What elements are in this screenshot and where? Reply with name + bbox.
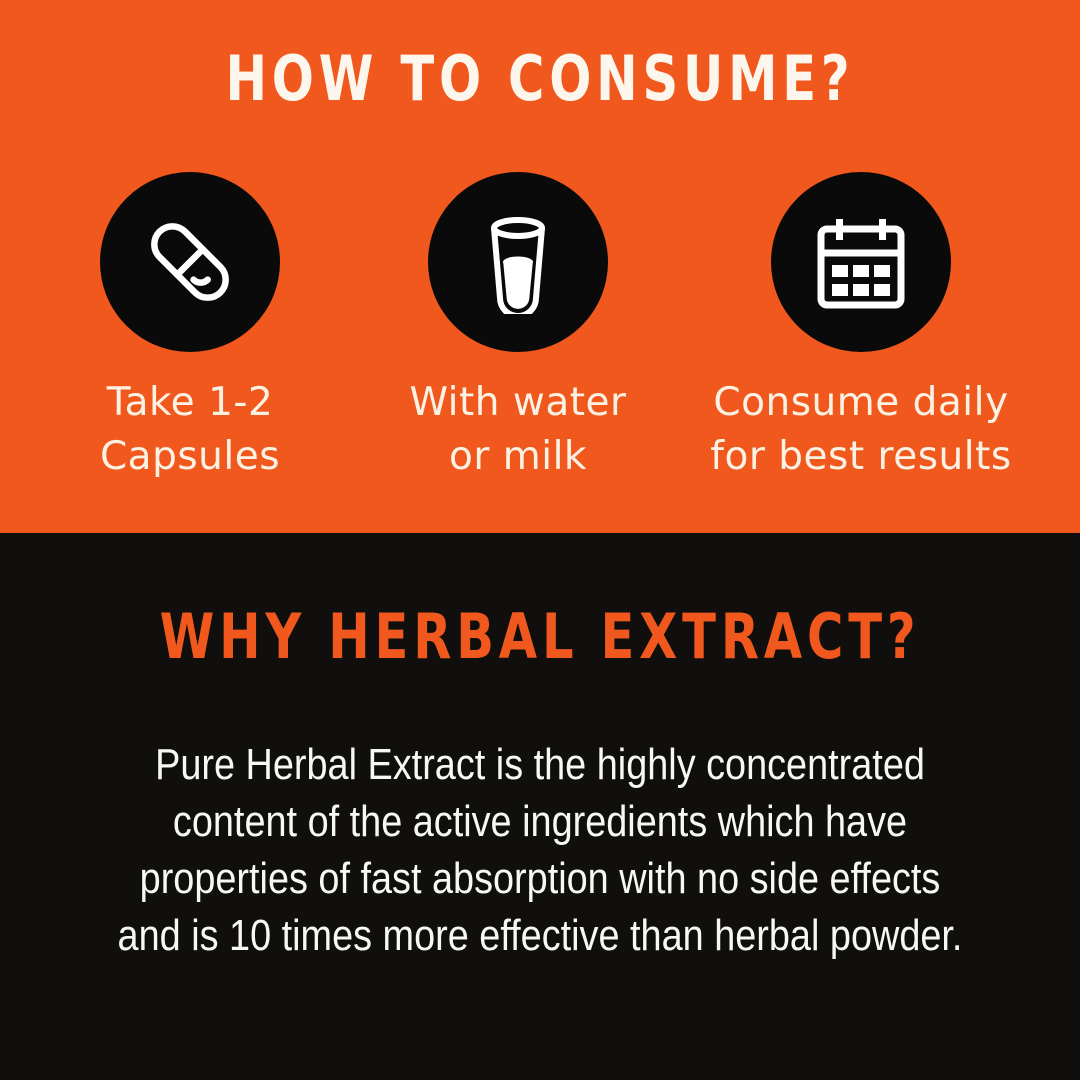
water-badge bbox=[428, 172, 608, 352]
why-paragraph: Pure Herbal Extract is the highly concen… bbox=[101, 736, 978, 964]
why-title: WHY HERBAL EXTRACT? bbox=[108, 601, 972, 673]
steps-row: Take 1-2 Capsules bbox=[0, 172, 1080, 502]
why-herbal-extract-section: WHY HERBAL EXTRACT? Pure Herbal Extract … bbox=[0, 533, 1080, 1080]
step-item-capsule: Take 1-2 Capsules bbox=[30, 172, 350, 484]
how-to-consume-section: HOW TO CONSUME? Take 1-2 bbox=[0, 0, 1080, 533]
step-caption-water: With water or milk bbox=[358, 376, 678, 484]
step-caption-calendar: Consume daily for best results bbox=[701, 376, 1021, 484]
water-glass-icon bbox=[466, 210, 570, 314]
calendar-badge bbox=[771, 172, 951, 352]
calendar-icon bbox=[809, 210, 913, 314]
step-item-calendar: Consume daily for best results bbox=[701, 172, 1021, 484]
promo-poster: HOW TO CONSUME? Take 1-2 bbox=[0, 0, 1080, 1080]
capsule-icon bbox=[138, 210, 242, 314]
step-item-water: With water or milk bbox=[358, 172, 678, 484]
step-caption-capsule: Take 1-2 Capsules bbox=[30, 376, 350, 484]
page-title: HOW TO CONSUME? bbox=[108, 44, 972, 114]
capsule-badge bbox=[100, 172, 280, 352]
